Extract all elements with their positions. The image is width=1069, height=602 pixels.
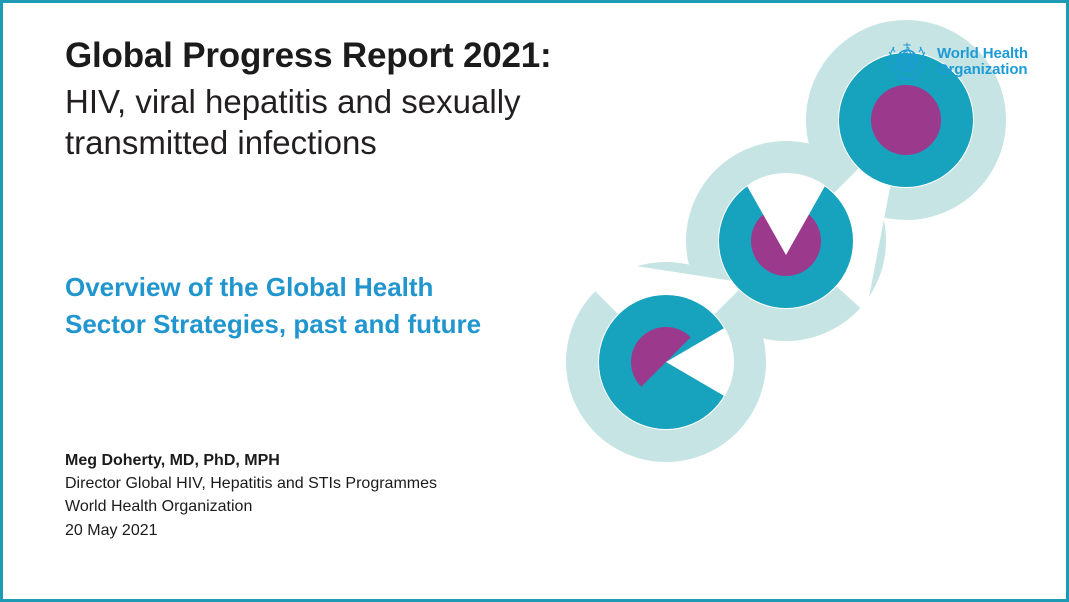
page-title: Global Progress Report 2021: bbox=[65, 35, 705, 76]
author-block: Meg Doherty, MD, PhD, MPH Director Globa… bbox=[65, 449, 585, 542]
page-subtitle-line-1: HIV, viral hepatitis and sexually bbox=[65, 82, 645, 122]
overview-subtitle-block: Overview of the Global Health Sector Str… bbox=[65, 269, 625, 343]
page-subtitle-line-2: transmitted infections bbox=[65, 123, 645, 163]
slide-canvas: Global Progress Report 2021: HIV, viral … bbox=[0, 0, 1069, 602]
overview-subtitle-line-1: Overview of the Global Health bbox=[65, 269, 625, 306]
who-logo: World Health Organization bbox=[884, 39, 1028, 85]
who-wordmark-line-1: World Health bbox=[937, 46, 1028, 62]
overview-subtitle-line-2: Sector Strategies, past and future bbox=[65, 306, 625, 343]
who-emblem-icon bbox=[884, 39, 930, 85]
author-organization: World Health Organization bbox=[65, 495, 585, 518]
title-block: Global Progress Report 2021: HIV, viral … bbox=[65, 35, 705, 163]
author-name: Meg Doherty, MD, PhD, MPH bbox=[65, 449, 585, 472]
presentation-date: 20 May 2021 bbox=[65, 519, 585, 542]
ring-circle-middle bbox=[719, 174, 853, 308]
who-wordmark-line-2: Organization bbox=[937, 62, 1028, 78]
who-wordmark: World Health Organization bbox=[937, 46, 1028, 78]
author-role: Director Global HIV, Hepatitis and STIs … bbox=[65, 472, 585, 495]
